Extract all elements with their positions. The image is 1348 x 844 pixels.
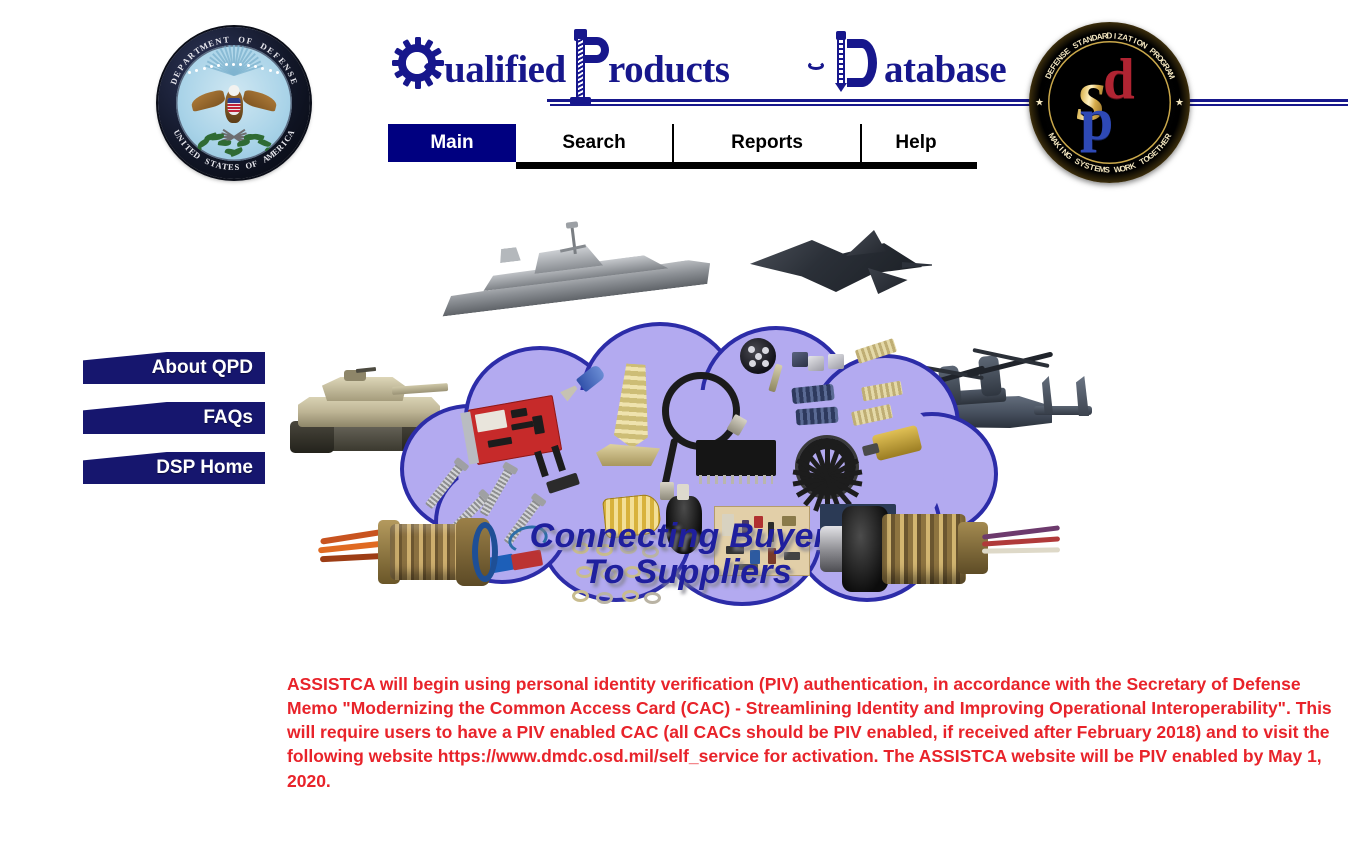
dsp-star-right: ★ <box>1175 97 1184 108</box>
tab-help[interactable]: Help <box>862 124 970 162</box>
threaded-stud-part-3 <box>851 404 893 426</box>
dsp-seal-center: s d p <box>1048 41 1171 164</box>
threaded-stud-part-2 <box>861 381 903 402</box>
gold-connector-part <box>872 425 923 461</box>
circular-connector-left-image <box>320 508 520 600</box>
gear-icon <box>392 38 442 88</box>
sidebar-item-dsp-home[interactable]: DSP Home <box>83 452 265 484</box>
terminal-tip-part <box>560 382 580 401</box>
gold-bracket-part <box>596 444 660 466</box>
sidebar-item-faqs[interactable]: FAQs <box>83 402 265 434</box>
spade-terminal-part <box>576 364 606 393</box>
navy-ship-image <box>440 218 720 308</box>
connector-wires-right <box>982 530 1062 560</box>
logo-underline <box>547 99 1348 102</box>
sidebar-item-about-qpd[interactable]: About QPD <box>83 352 265 384</box>
dsp-monogram: s d p <box>1048 41 1171 164</box>
dsp-seal: DEFENSE STANDARDIZATION PROGRAM MAKING S… <box>1029 22 1190 183</box>
tab-reports[interactable]: Reports <box>674 124 862 162</box>
small-block-part-3 <box>828 354 844 369</box>
logo-word-qualified: ualified <box>444 48 566 91</box>
dod-seal-stars <box>188 59 280 83</box>
letter-d-bowl <box>847 39 877 87</box>
dod-seal: DEPARTMENT OF DEFENSE UNITED STATES OF A… <box>158 27 310 179</box>
small-block-part-2 <box>792 352 808 367</box>
site-header: DEPARTMENT OF DEFENSE UNITED STATES OF A… <box>0 0 1348 185</box>
tab-search[interactable]: Search <box>516 124 674 162</box>
hero-graphic: Connecting Buyers To Suppliers <box>280 200 1120 620</box>
tab-main[interactable]: Main <box>388 124 516 162</box>
circular-connector-right-image <box>842 500 1052 598</box>
dod-seal-center <box>176 45 292 161</box>
stealth-aircraft-image <box>750 222 930 308</box>
threaded-stud-part-1 <box>855 338 897 364</box>
connector-body-part-1 <box>791 384 834 404</box>
small-block-part-1 <box>808 356 824 371</box>
tabnav-underline <box>516 162 977 169</box>
dsp-star-left: ★ <box>1035 97 1044 108</box>
screw-part-1 <box>425 463 464 510</box>
connector-body-part-2 <box>795 407 838 426</box>
page-root: DEPARTMENT OF DEFENSE UNITED STATES OF A… <box>0 0 1348 844</box>
dsp-letter-p: p <box>1080 89 1113 149</box>
piv-alert-message: ASSISTCA will begin using personal ident… <box>287 672 1333 793</box>
dod-seal-laurel <box>186 127 282 157</box>
logo-underline-2 <box>550 104 1348 106</box>
main-navigation: Main Search Reports Help <box>388 124 970 162</box>
qpd-logo[interactable]: ualified roducts atabase <box>392 33 982 105</box>
logo-word-database: atabase <box>884 48 1006 91</box>
dip-ic-part <box>696 440 776 476</box>
sprocket-part <box>798 438 856 496</box>
sidebar-nav: About QPD FAQs DSP Home <box>83 352 265 502</box>
gold-rack-part <box>613 363 653 449</box>
round-connector-part <box>740 338 776 374</box>
logo-word-products: roducts <box>608 48 729 91</box>
